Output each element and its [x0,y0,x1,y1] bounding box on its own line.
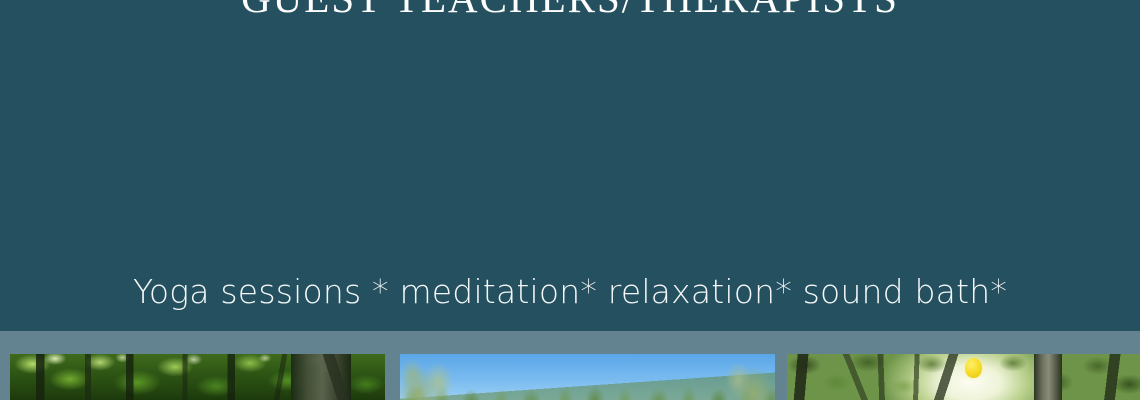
page-title: GUEST TEACHERS/THERAPISTS [0,0,1140,22]
offerings-line-1: Yoga sessions * meditation* relaxation* … [0,264,1140,320]
branch-layer [787,354,1140,400]
right-foreground-tree [723,354,776,400]
retreat-slide: GUEST TEACHERS/THERAPISTS Yoga sessions … [0,0,1140,400]
branch-layer [10,354,385,400]
yellow-balloon [965,358,982,378]
woodland-canopy-photo [10,354,385,400]
offerings-text-block: Yoga sessions * meditation* relaxation* … [0,152,1140,331]
sunlit-trees-balloon-photo [787,354,1140,400]
left-foreground-tree [400,354,460,400]
blue-sky-conifers-photo [400,354,775,400]
teal-background-panel: GUEST TEACHERS/THERAPISTS Yoga sessions … [0,0,1140,331]
